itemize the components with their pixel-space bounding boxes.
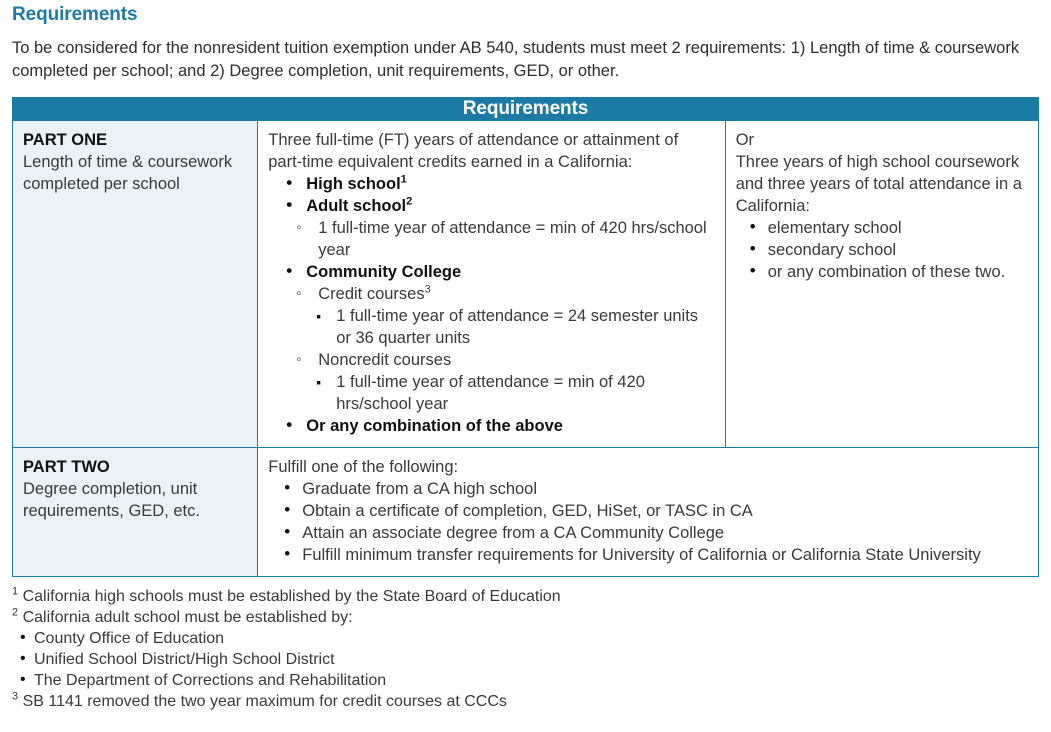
footnote-marker-2: 2 — [12, 607, 18, 619]
list-item: County Office of Education — [12, 628, 1039, 649]
document-page: Requirements To be considered for the no… — [0, 4, 1051, 732]
footnote-marker: 1 — [401, 174, 407, 186]
list-item: The Department of Corrections and Rehabi… — [12, 670, 1039, 691]
right-column-list: elementary school secondary school or an… — [736, 217, 1028, 283]
part-two-label-cell: PART TWO Degree completion, unit require… — [13, 448, 258, 577]
list-item-text: High school — [306, 175, 400, 193]
footnote-marker-1: 1 — [12, 586, 18, 598]
list-item: Adult school2 — [268, 195, 714, 217]
part-one-description: Length of time & coursework completed pe… — [23, 151, 247, 195]
list-item: 1 full-time year of attendance = 24 seme… — [268, 305, 714, 349]
list-item: elementary school — [736, 217, 1028, 239]
footnote-2: 2 California adult school must be establ… — [12, 607, 1039, 628]
list-item-text: Credit courses — [318, 285, 424, 303]
table-header-row: Requirements — [13, 98, 1039, 121]
list-item: Graduate from a CA high school — [268, 478, 1028, 500]
part-one-label-cell: PART ONE Length of time & coursework com… — [13, 121, 258, 448]
list-item-group-level1-c: Or any combination of the above — [268, 415, 714, 437]
part-two-content-cell: Fulfill one of the following: Graduate f… — [258, 448, 1039, 577]
table-row: PART TWO Degree completion, unit require… — [13, 448, 1039, 577]
list-item: Community College — [268, 261, 714, 283]
list-item: or any combination of these two. — [736, 261, 1028, 283]
footnote-marker-3: 3 — [12, 691, 18, 703]
part-one-right-cell: Or Three years of high school coursework… — [725, 121, 1038, 448]
list-item: Unified School District/High School Dist… — [12, 649, 1039, 670]
list-item-group-level1-b: Community College — [268, 261, 714, 283]
requirements-table: Requirements PART ONE Length of time & c… — [12, 97, 1039, 577]
footnote-3-text: SB 1141 removed the two year maximum for… — [23, 693, 507, 710]
footnote-1-text: California high schools must be establis… — [23, 588, 561, 605]
list-item: 1 full-time year of attendance = min of … — [268, 217, 714, 261]
part-one-lead-text: Three full-time (FT) years of attendance… — [268, 129, 714, 173]
footnote-3: 3 SB 1141 removed the two year maximum f… — [12, 691, 1039, 712]
list-item-group-level3-b: 1 full-time year of attendance = min of … — [268, 371, 714, 415]
intro-paragraph: To be considered for the nonresident tui… — [12, 37, 1032, 83]
right-column-or-text: Or — [736, 129, 1028, 151]
footnote-marker: 2 — [406, 196, 412, 208]
list-item-group-level1-a: High school1 Adult school2 — [268, 173, 714, 217]
right-column-lead-text: Three years of high school coursework an… — [736, 151, 1028, 217]
list-item-group-level3-a: 1 full-time year of attendance = 24 seme… — [268, 305, 714, 349]
footnote-2-list: County Office of Education Unified Schoo… — [12, 628, 1039, 691]
list-item: Attain an associate degree from a CA Com… — [268, 522, 1028, 544]
list-item: Fulfill minimum transfer requirements fo… — [268, 544, 1028, 566]
part-two-description: Degree completion, unit requirements, GE… — [23, 478, 247, 522]
table-row: PART ONE Length of time & coursework com… — [13, 121, 1039, 448]
list-item: Obtain a certificate of completion, GED,… — [268, 500, 1028, 522]
list-item: Noncredit courses — [268, 349, 714, 371]
list-item-text: Adult school — [306, 197, 406, 215]
footnote-1: 1 California high schools must be establ… — [12, 586, 1039, 607]
part-two-lead-text: Fulfill one of the following: — [268, 456, 1028, 478]
footnotes-section: 1 California high schools must be establ… — [12, 586, 1039, 712]
list-item-group-level2-c: Noncredit courses — [268, 349, 714, 371]
page-title: Requirements — [12, 4, 1039, 26]
list-item: Or any combination of the above — [268, 415, 714, 437]
list-item: 1 full-time year of attendance = min of … — [268, 371, 714, 415]
part-two-title: PART TWO — [23, 456, 247, 478]
list-item: secondary school — [736, 239, 1028, 261]
part-one-title: PART ONE — [23, 129, 247, 151]
list-item: Credit courses3 — [268, 283, 714, 305]
list-item-group-level2-a: 1 full-time year of attendance = min of … — [268, 217, 714, 261]
part-two-list: Graduate from a CA high school Obtain a … — [268, 478, 1028, 566]
list-item: High school1 — [268, 173, 714, 195]
list-item-group-level2-b: Credit courses3 — [268, 283, 714, 305]
footnote-2-text: California adult school must be establis… — [23, 609, 353, 626]
footnote-marker: 3 — [425, 284, 431, 296]
table-header-title: Requirements — [13, 98, 1039, 121]
part-one-middle-cell: Three full-time (FT) years of attendance… — [258, 121, 725, 448]
